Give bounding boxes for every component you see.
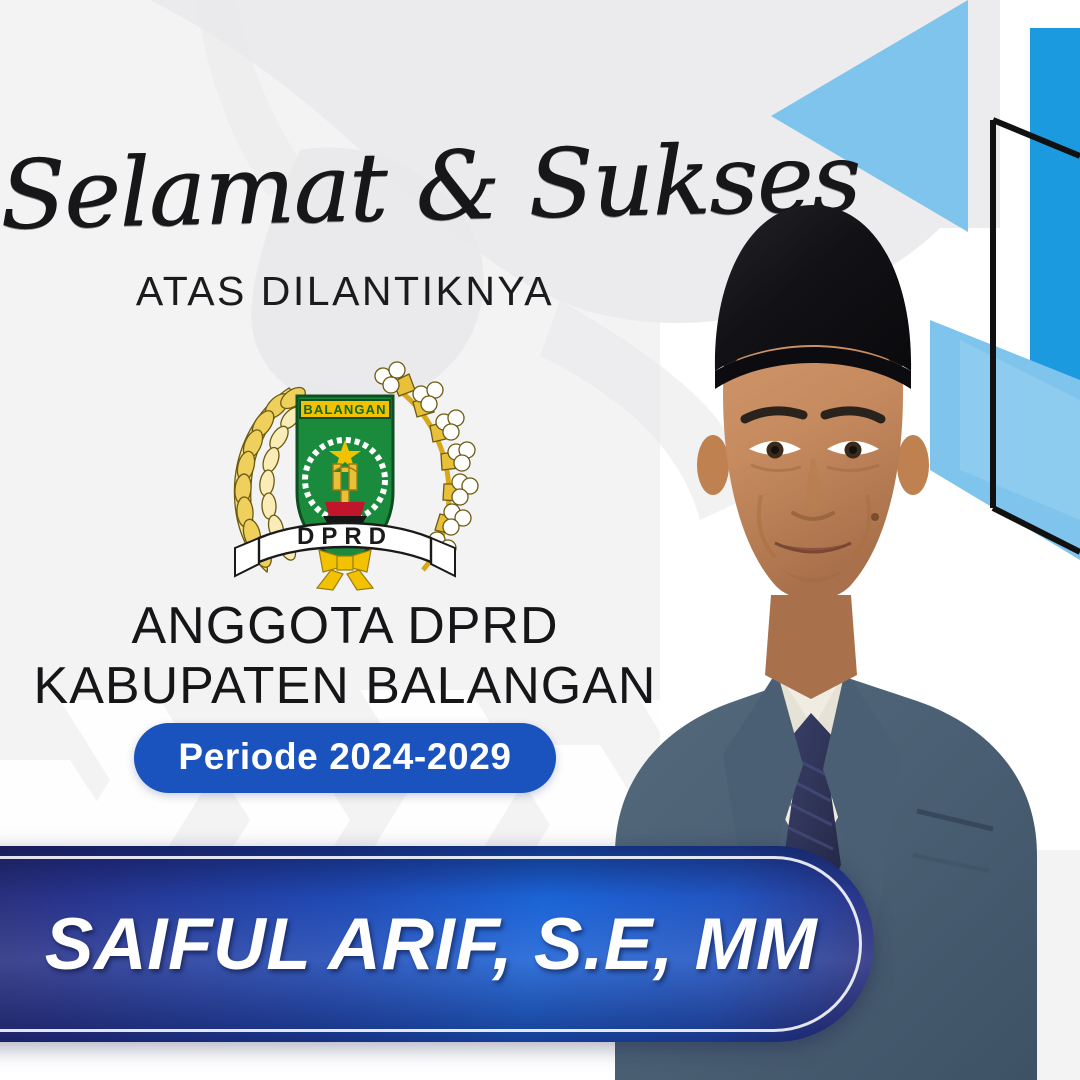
period-badge: Periode 2024-2029 [134,723,555,793]
person-name: SAIFUL ARIF, S.E, MM [0,846,862,1042]
dprd-ribbon: DPRD [235,523,455,590]
dprd-balangan-emblem-icon: BALANGAN SANGGAM DPRD [197,352,493,600]
poster-canvas: Selamat & Sukses ATAS DILANTIKNYA [0,0,1080,1080]
svg-text:BALANGAN: BALANGAN [303,402,386,417]
svg-text:DPRD: DPRD [297,523,393,550]
